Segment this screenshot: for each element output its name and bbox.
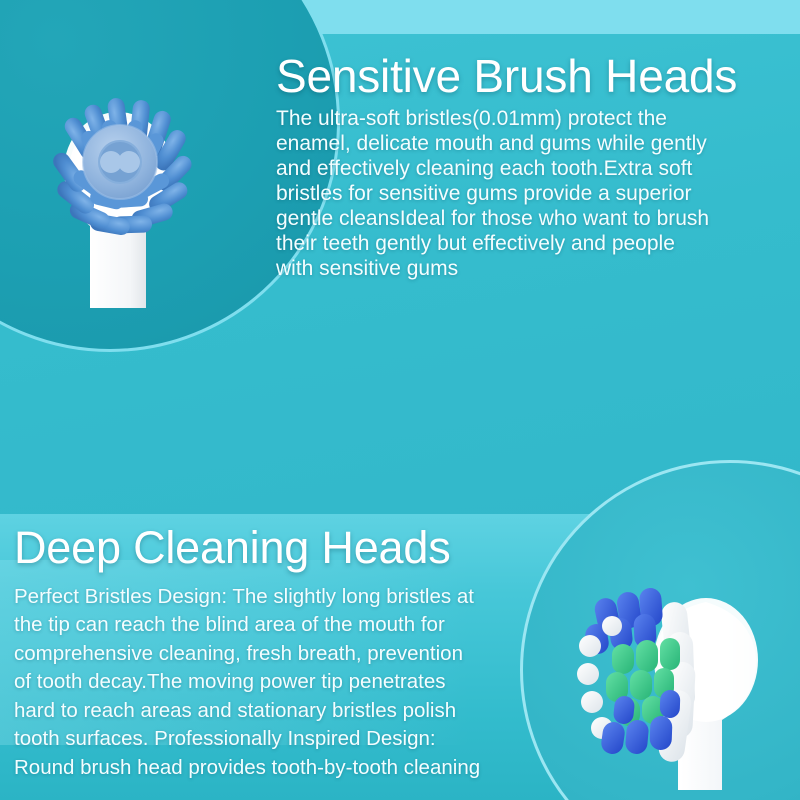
sensitive-brush-head-image <box>28 58 238 308</box>
top-body-line: their teeth gently but effectively and p… <box>276 231 792 256</box>
bottom-headline: Deep Cleaning Heads <box>14 524 544 573</box>
bottom-body-copy: Perfect Bristles Design: The slightly lo… <box>14 583 544 783</box>
bottom-body-line: Perfect Bristles Design: The slightly lo… <box>14 583 544 612</box>
top-body-copy: The ultra-soft bristles(0.01mm) protect … <box>276 106 792 281</box>
top-headline: Sensitive Brush Heads <box>276 52 792 102</box>
bottom-body-line: comprehensive cleaning, fresh breath, pr… <box>14 640 544 669</box>
deep-cleaning-brush-head-image <box>556 540 796 790</box>
top-body-line: and effectively cleaning each tooth.Extr… <box>276 156 792 181</box>
infographic-canvas: Sensitive Brush Heads The ultra-soft bri… <box>0 0 800 800</box>
bottom-body-line: Round brush head provides tooth-by-tooth… <box>14 754 544 783</box>
bottom-body-line: the tip can reach the blind area of the … <box>14 611 544 640</box>
bottom-body-line: hard to reach areas and stationary brist… <box>14 697 544 726</box>
top-text-panel: Sensitive Brush Heads The ultra-soft bri… <box>276 52 792 281</box>
top-body-line: The ultra-soft bristles(0.01mm) protect … <box>276 106 792 131</box>
bottom-body-line: of tooth decay.The moving power tip pene… <box>14 668 544 697</box>
sensitive-center-tuft-right <box>118 151 140 173</box>
top-body-line: bristles for sensitive gums provide a su… <box>276 181 792 206</box>
bottom-body-line: tooth surfaces. Professionally Inspired … <box>14 725 544 754</box>
top-body-line: gentle cleansIdeal for those who want to… <box>276 206 792 231</box>
top-body-line: enamel, delicate mouth and gums while ge… <box>276 131 792 156</box>
bottom-text-panel: Deep Cleaning Heads Perfect Bristles Des… <box>14 524 544 782</box>
top-body-line: with sensitive gums <box>276 256 792 281</box>
